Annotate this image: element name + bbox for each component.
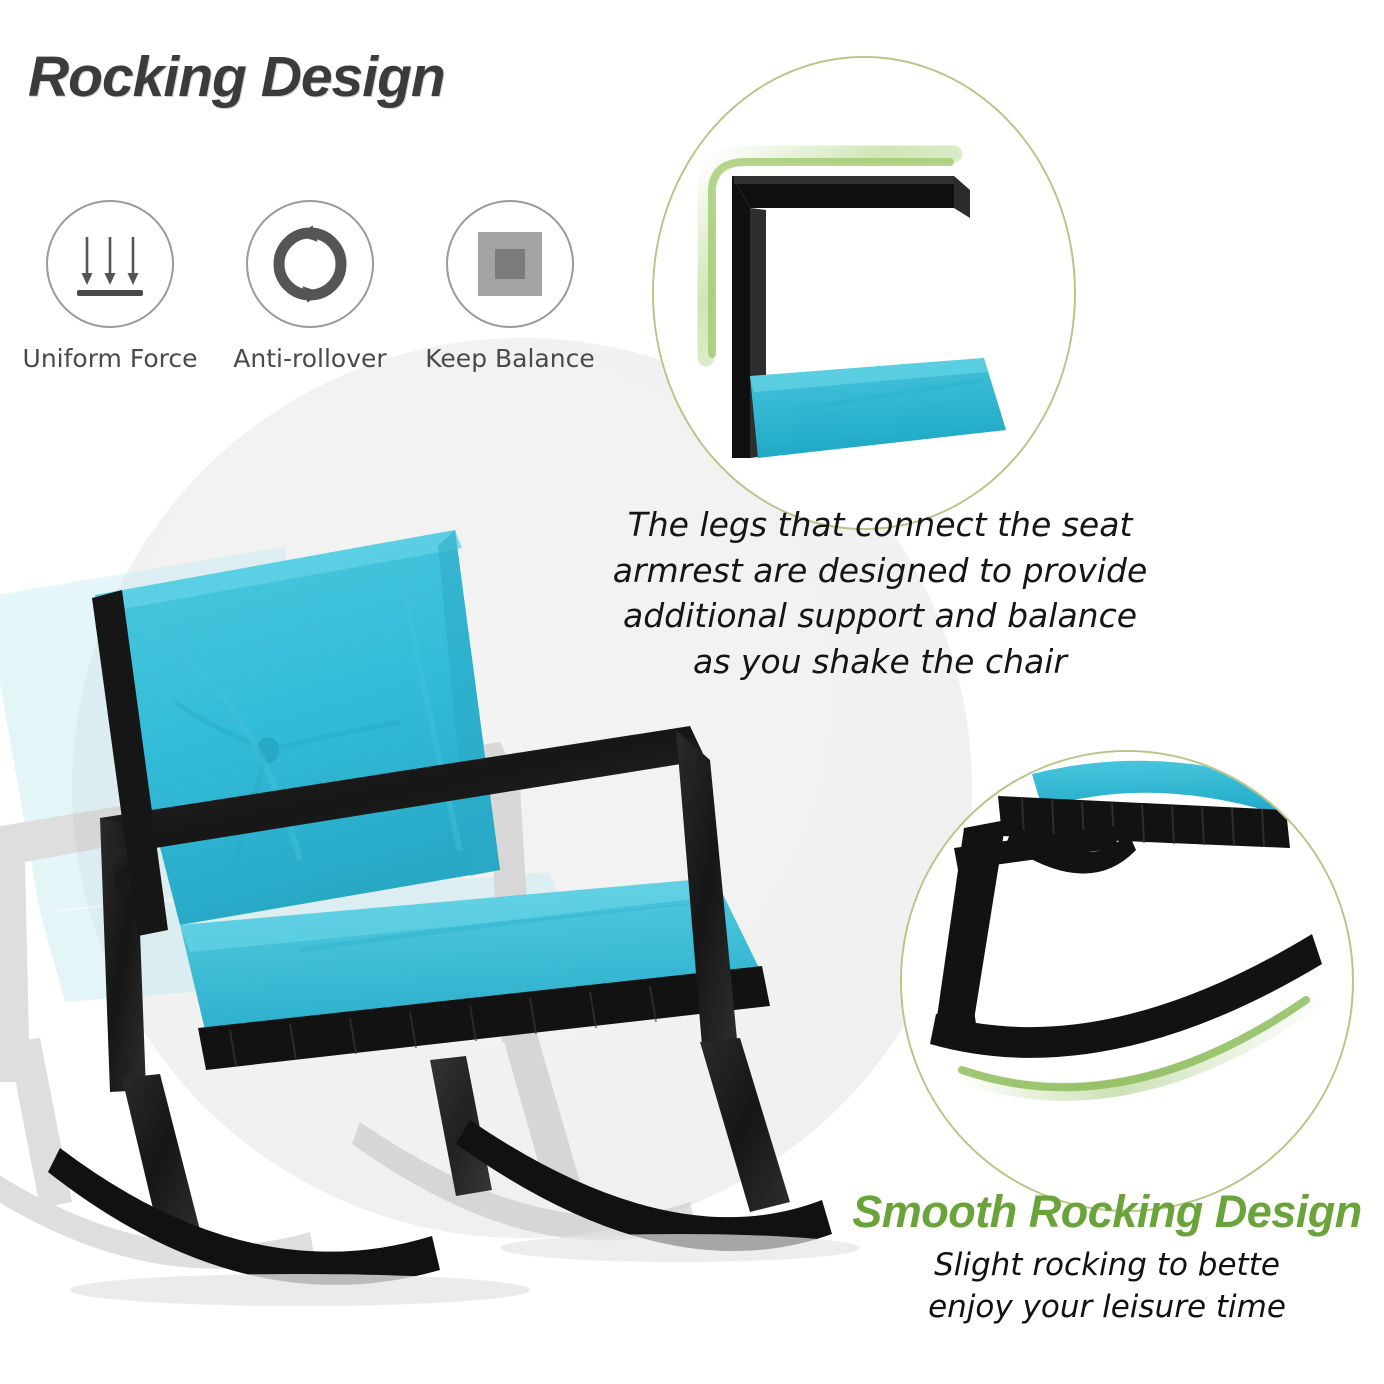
- keep-balance-icon-ring: [446, 200, 574, 328]
- description-line: armrest are designed to provide: [600, 548, 1160, 594]
- caption-subtext-line: enjoy your leisure time: [830, 1287, 1384, 1329]
- caption-subtext-line: Slight rocking to bette: [830, 1245, 1384, 1287]
- feature-label: Uniform Force: [23, 344, 198, 373]
- feature-icon-row: Uniform Force Anti-rollover: [10, 200, 610, 400]
- feature-uniform-force: Uniform Force: [10, 200, 210, 373]
- caption-subtext: Slight rocking to bette enjoy your leisu…: [830, 1245, 1384, 1329]
- armrest-leg-detail-inset: [652, 56, 1076, 530]
- anti-rollover-icon: [267, 221, 353, 307]
- armrest-description: The legs that connect the seat armrest a…: [600, 502, 1160, 684]
- feature-anti-rollover: Anti-rollover: [210, 200, 410, 373]
- page-title: Rocking Design: [28, 48, 445, 108]
- smooth-rocking-caption: Smooth Rocking Design Slight rocking to …: [830, 1188, 1384, 1329]
- anti-rollover-icon-ring: [246, 200, 374, 328]
- keep-balance-icon: [467, 221, 553, 307]
- description-line: as you shake the chair: [600, 639, 1160, 685]
- uniform-force-icon: [67, 221, 153, 307]
- feature-keep-balance: Keep Balance: [410, 200, 610, 373]
- uniform-force-icon-ring: [46, 200, 174, 328]
- feature-label: Keep Balance: [425, 344, 594, 373]
- feature-label: Anti-rollover: [233, 344, 386, 373]
- caption-title: Smooth Rocking Design: [830, 1188, 1384, 1235]
- infographic-canvas: Rocking Design: [0, 0, 1384, 1384]
- description-line: additional support and balance: [600, 593, 1160, 639]
- rocker-base-detail-inset: [900, 750, 1354, 1212]
- description-line: The legs that connect the seat: [600, 502, 1160, 548]
